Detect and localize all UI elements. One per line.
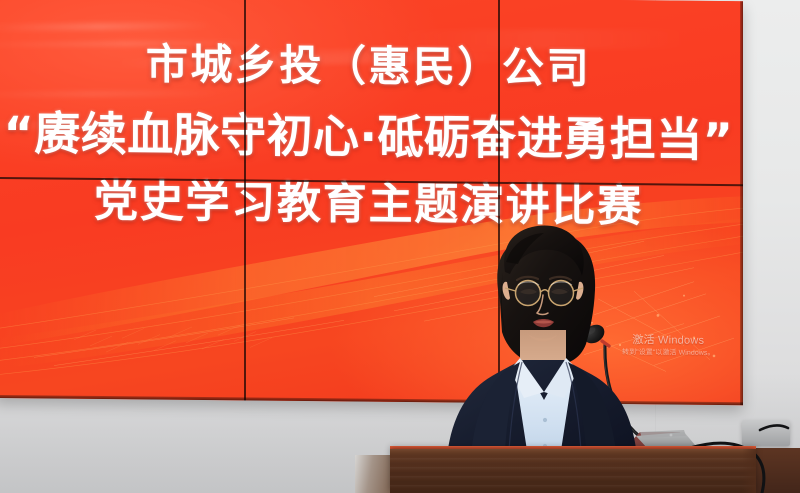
podium-right-edge [742, 449, 756, 493]
wall-mounted-device [742, 420, 790, 446]
podium [390, 449, 756, 493]
podium-wood-grain [390, 449, 756, 493]
led-wall-right-edge [740, 1, 743, 405]
led-headline-line-3: 党史学习教育主题演讲比赛 [0, 174, 743, 235]
led-headline-line-1: 市城乡投（惠民）公司 [0, 38, 743, 95]
led-headline-line-2: “赓续血脉守初心·砥砺奋进勇担当” [0, 106, 743, 167]
photo-scene: 市城乡投（惠民）公司 “赓续血脉守初心·砥砺奋进勇担当” 党史学习教育主题演讲比… [0, 0, 800, 493]
led-video-wall: 市城乡投（惠民）公司 “赓续血脉守初心·砥砺奋进勇担当” 党史学习教育主题演讲比… [0, 0, 743, 405]
podium-left-panel [355, 455, 395, 493]
